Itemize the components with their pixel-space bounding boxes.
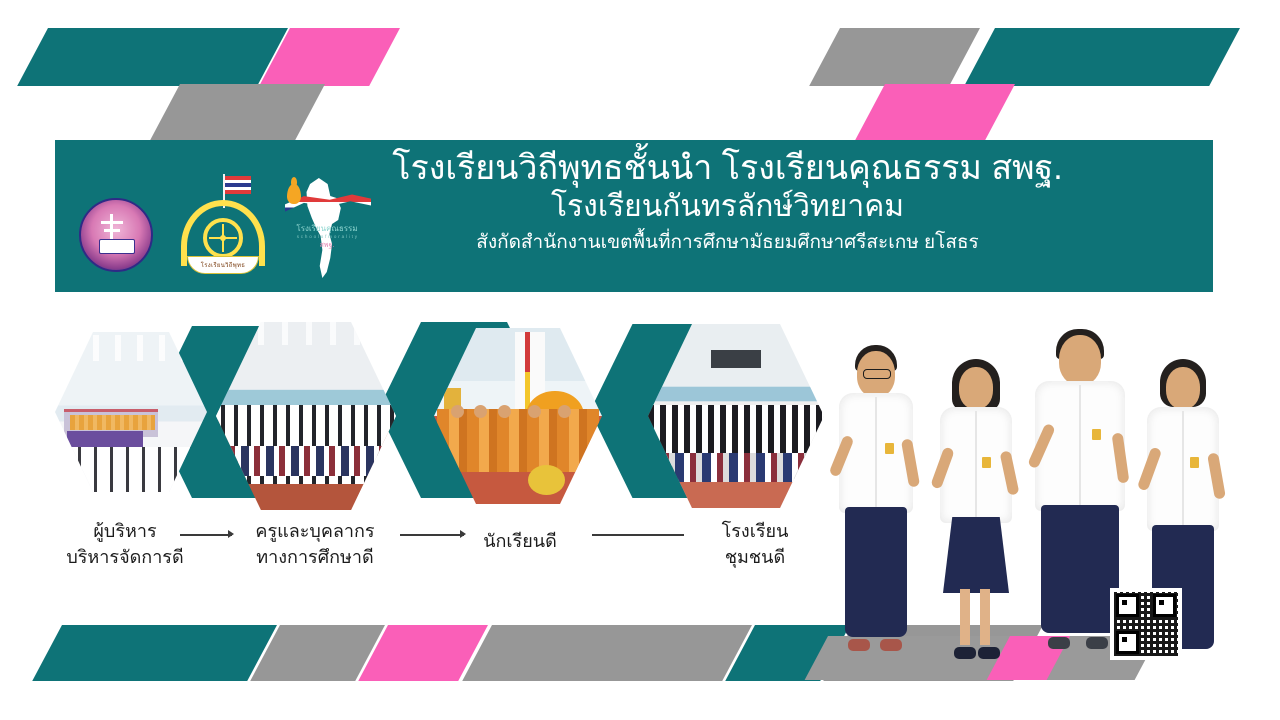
label-administrators-line1: ผู้บริหาร xyxy=(40,518,210,544)
school-badge xyxy=(982,457,991,468)
shoe xyxy=(880,639,902,651)
title-line-2: โรงเรียนกันทรลักษ์วิทยาคม xyxy=(255,189,1200,226)
label-teachers: ครูและบุคลากร ทางการศึกษาดี xyxy=(225,518,405,570)
uniform-trousers xyxy=(845,507,907,637)
shoe xyxy=(978,647,1000,659)
label-school-community-line2: ชุมชนดี xyxy=(690,544,820,570)
school-badge xyxy=(885,443,894,454)
school-badge xyxy=(1190,457,1199,468)
deco-parallelogram-teal-bottom-left xyxy=(32,625,277,681)
dharma-wheel-icon xyxy=(203,218,243,258)
head xyxy=(1166,367,1200,409)
label-teachers-line2: ทางการศึกษาดี xyxy=(225,544,405,570)
deco-parallelogram-gray-bottom-2 xyxy=(462,625,752,681)
shoe xyxy=(1086,637,1108,649)
header-banner: โรงเรียนวิถีพุทธ โรงเรียนคุณธรรม s c h o… xyxy=(55,140,1213,292)
qr-finder-top-right xyxy=(1153,594,1176,617)
uniform-trousers xyxy=(1041,505,1119,633)
deco-parallelogram-gray-top-right xyxy=(809,28,980,86)
head xyxy=(959,367,993,409)
logo-ribbon-text: โรงเรียนวิถีพุทธ xyxy=(187,256,259,274)
shoe xyxy=(954,647,976,659)
thai-flag-icon xyxy=(225,176,251,194)
deco-parallelogram-teal-top-right xyxy=(964,28,1240,86)
label-row: ผู้บริหาร บริหารจัดการดี ครูและบุคลากร ท… xyxy=(0,510,840,590)
deco-parallelogram-pink-top-right xyxy=(854,84,1015,142)
label-teachers-line1: ครูและบุคลากร xyxy=(225,518,405,544)
student-boy-glasses xyxy=(832,335,920,665)
label-school-community: โรงเรียน ชุมชนดี xyxy=(690,518,820,570)
shoe xyxy=(1048,637,1070,649)
label-school-community-line1: โรงเรียน xyxy=(690,518,820,544)
banner-subtitle: สังกัดสำนักงานเขตพื้นที่การศึกษามัธยมศึก… xyxy=(255,230,1200,256)
school-crest-logo xyxy=(79,198,153,272)
label-administrators-line2: บริหารจัดการดี xyxy=(40,544,210,570)
qr-finder-top-left xyxy=(1116,594,1139,617)
label-students: นักเรียนดี xyxy=(455,528,585,554)
head xyxy=(1059,335,1101,385)
label-students-line1: นักเรียนดี xyxy=(455,528,585,554)
title-line-1: โรงเรียนวิถีพุทธชั้นนำ โรงเรียนคุณธรรม ส… xyxy=(255,148,1200,189)
uniform-skirt xyxy=(943,517,1009,593)
connector-line-3 xyxy=(592,534,684,536)
school-badge xyxy=(1092,429,1101,440)
qr-code[interactable] xyxy=(1110,588,1182,660)
banner-titles: โรงเรียนวิถีพุทธชั้นนำ โรงเรียนคุณธรรม ส… xyxy=(255,148,1200,256)
crest-emblem-icon xyxy=(95,214,137,256)
student-girl-left xyxy=(932,345,1020,665)
poster-canvas: โรงเรียนวิถีพุทธ โรงเรียนคุณธรรม s c h o… xyxy=(0,0,1280,720)
shoe xyxy=(848,639,870,651)
deco-parallelogram-teal-top-left xyxy=(17,28,288,86)
qr-finder-bottom-left xyxy=(1116,631,1139,654)
label-administrators: ผู้บริหาร บริหารจัดการดี xyxy=(40,518,210,570)
glasses-icon xyxy=(863,369,891,379)
deco-parallelogram-gray-top-left xyxy=(149,84,325,142)
